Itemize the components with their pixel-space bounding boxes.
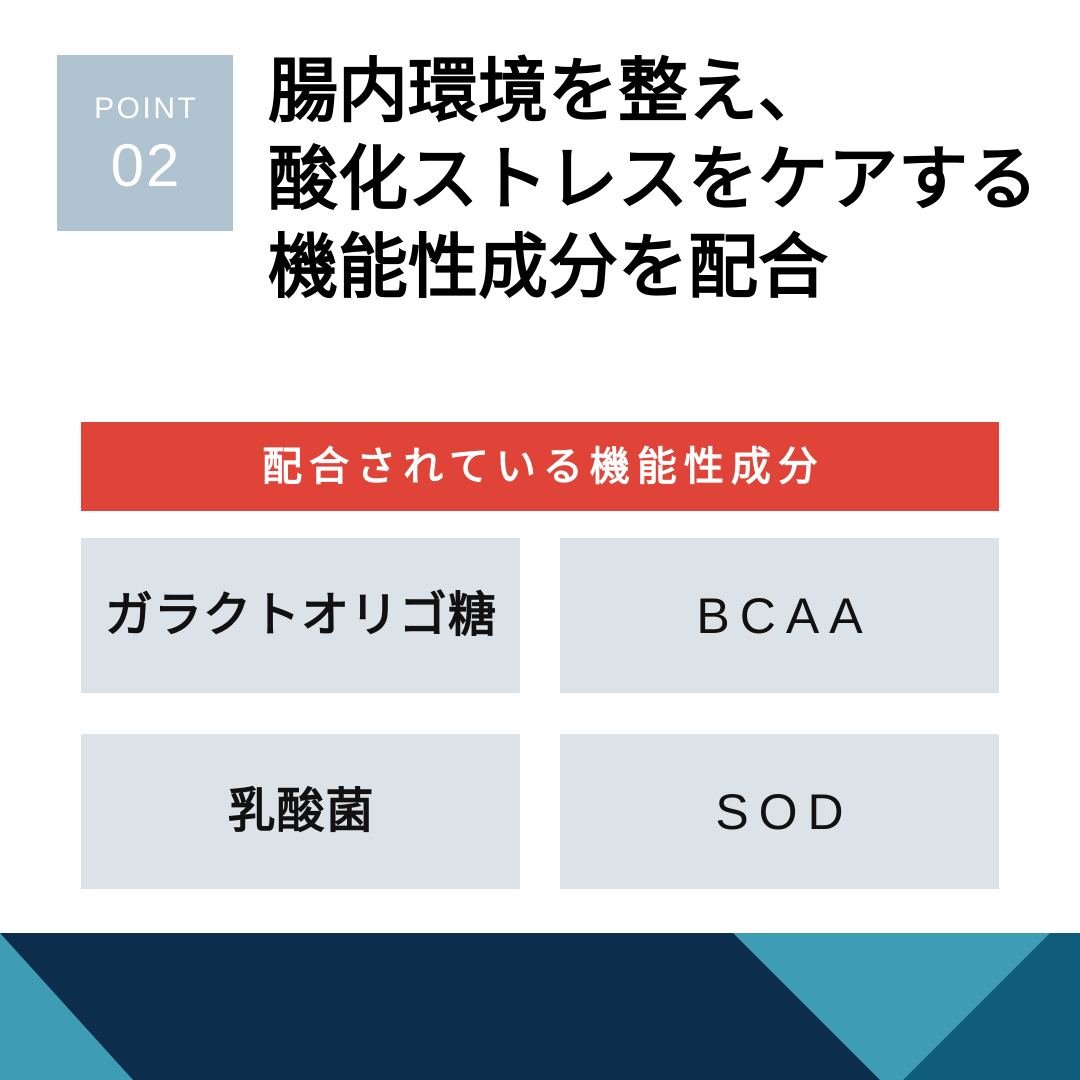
ingredient-cell: 乳酸菌 [81, 734, 520, 889]
page-title-line-2: 酸化ストレスをケアする [268, 135, 1028, 223]
slide-canvas: POINT 02 腸内環境を整え、 酸化ストレスをケアする 機能性成分を配合 配… [0, 0, 1080, 1080]
ingredient-label: BCAA [686, 591, 872, 641]
header-section: POINT 02 腸内環境を整え、 酸化ストレスをケアする 機能性成分を配合 [57, 55, 1023, 325]
ingredient-label: 乳酸菌 [226, 788, 374, 836]
ingredient-label: SOD [705, 787, 853, 837]
point-badge: POINT 02 [57, 55, 233, 231]
section-banner-title: 配合されている機能性成分 [255, 447, 825, 487]
ingredient-cell: ガラクトオリゴ糖 [81, 538, 520, 693]
bottom-decoration [0, 933, 1080, 1080]
deco-navy-parallelogram [0, 933, 880, 1080]
ingredient-cell: SOD [560, 734, 999, 889]
page-title-line-1: 腸内環境を整え、 [268, 47, 1028, 135]
ingredient-cell: BCAA [560, 538, 999, 693]
ingredient-label: ガラクトオリゴ糖 [104, 592, 497, 640]
bottom-decoration-shapes [0, 933, 1080, 1080]
ingredient-grid: ガラクトオリゴ糖 BCAA 乳酸菌 SOD [81, 538, 999, 889]
section-banner: 配合されている機能性成分 [81, 422, 999, 511]
page-title: 腸内環境を整え、 酸化ストレスをケアする 機能性成分を配合 [268, 47, 1028, 311]
point-badge-number: 02 [109, 136, 182, 196]
page-title-line-3: 機能性成分を配合 [268, 223, 1028, 311]
point-badge-label: POINT [92, 94, 199, 124]
